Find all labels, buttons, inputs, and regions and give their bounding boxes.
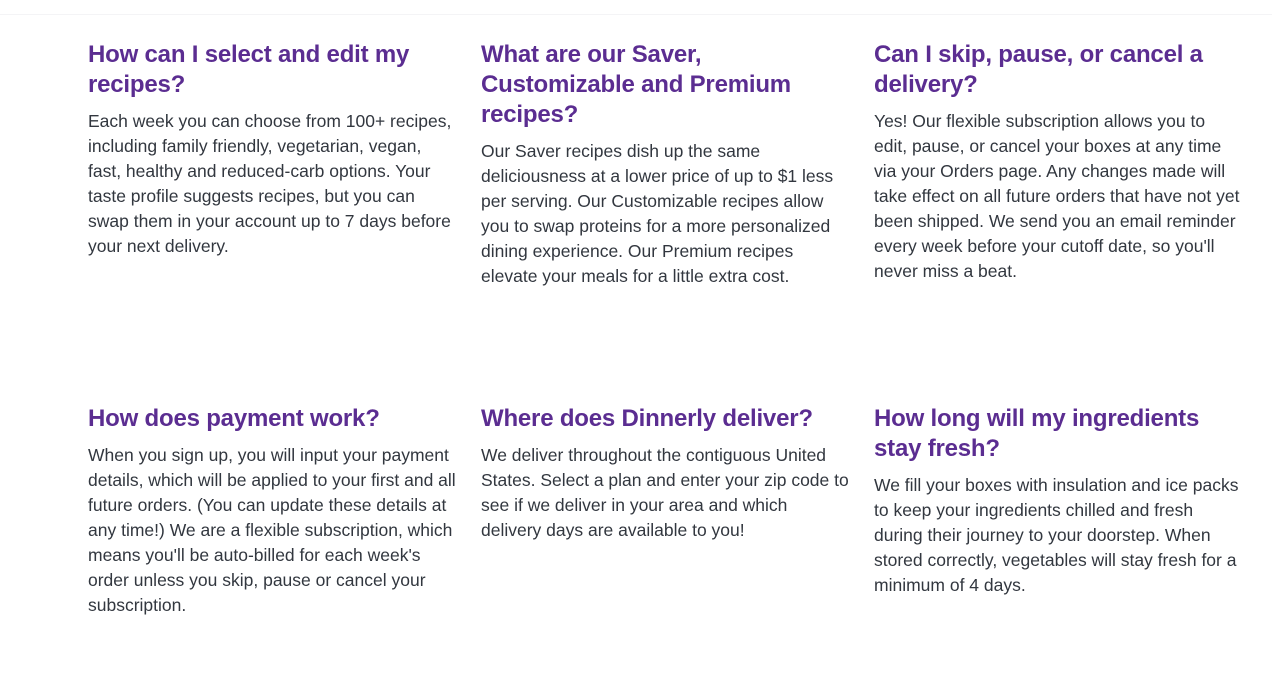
faq-question: How can I select and edit my recipes? (88, 40, 456, 100)
faq-item: What are our Saver, Customizable and Pre… (481, 40, 849, 289)
faq-answer: When you sign up, you will input your pa… (88, 443, 456, 618)
faq-item: How can I select and edit my recipes? Ea… (88, 40, 456, 259)
faq-answer: Our Saver recipes dish up the same delic… (481, 139, 849, 289)
top-divider (0, 14, 1272, 15)
faq-grid: How can I select and edit my recipes? Ea… (88, 40, 1238, 618)
faq-question: How does payment work? (88, 404, 456, 434)
faq-item: Can I skip, pause, or cancel a delivery?… (874, 40, 1242, 284)
faq-answer: Yes! Our flexible subscription allows yo… (874, 109, 1242, 284)
faq-question: What are our Saver, Customizable and Pre… (481, 40, 849, 130)
faq-question: Where does Dinnerly deliver? (481, 404, 849, 434)
faq-answer: We fill your boxes with insulation and i… (874, 473, 1242, 598)
faq-item: How long will my ingredients stay fresh?… (874, 404, 1242, 598)
faq-item: Where does Dinnerly deliver? We deliver … (481, 404, 849, 543)
faq-page: How can I select and edit my recipes? Ea… (0, 0, 1272, 679)
faq-answer: Each week you can choose from 100+ recip… (88, 109, 456, 259)
faq-question: Can I skip, pause, or cancel a delivery? (874, 40, 1242, 100)
faq-item: How does payment work? When you sign up,… (88, 404, 456, 618)
faq-question: How long will my ingredients stay fresh? (874, 404, 1242, 464)
faq-answer: We deliver throughout the contiguous Uni… (481, 443, 849, 543)
